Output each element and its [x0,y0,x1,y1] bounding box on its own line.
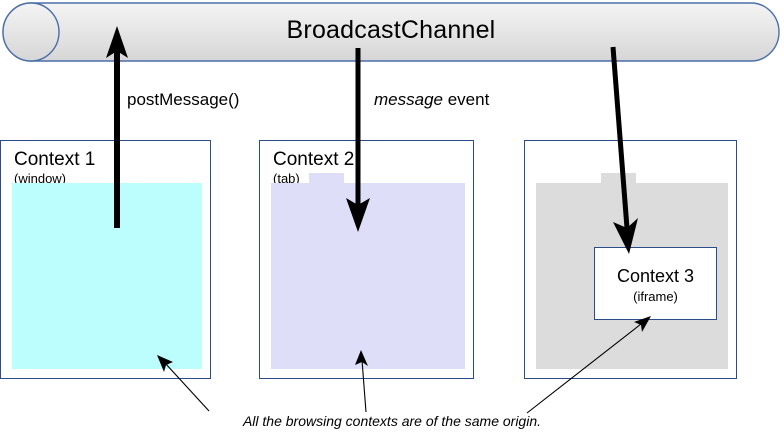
post-message-label: postMessage() [127,90,239,110]
diagram-canvas: BroadcastChannel Context 1 (window) Cont… [0,0,784,448]
message-event-label-italic: message [374,90,443,109]
context-2-box[interactable]: Context 2 (tab) [259,140,474,379]
context-2-viewport [271,183,465,369]
context-3-iframe-box[interactable]: Context 3 (iframe) [594,247,717,320]
message-event-label: message event [374,90,489,110]
context-3-title: Context 3 [595,266,716,287]
context-1-box[interactable]: Context 1 (window) [0,140,211,379]
context-3-subtitle: (iframe) [595,289,716,304]
message-event-label-roman: event [443,90,489,109]
context-1-viewport [12,183,202,369]
broadcast-channel-cylinder: BroadcastChannel [2,2,780,62]
broadcast-channel-label: BroadcastChannel [2,16,780,45]
context-2-title: Context 2 [273,149,354,171]
diagram-caption: All the browsing contexts are of the sam… [0,413,784,429]
context-1-title: Context 1 [14,149,95,171]
